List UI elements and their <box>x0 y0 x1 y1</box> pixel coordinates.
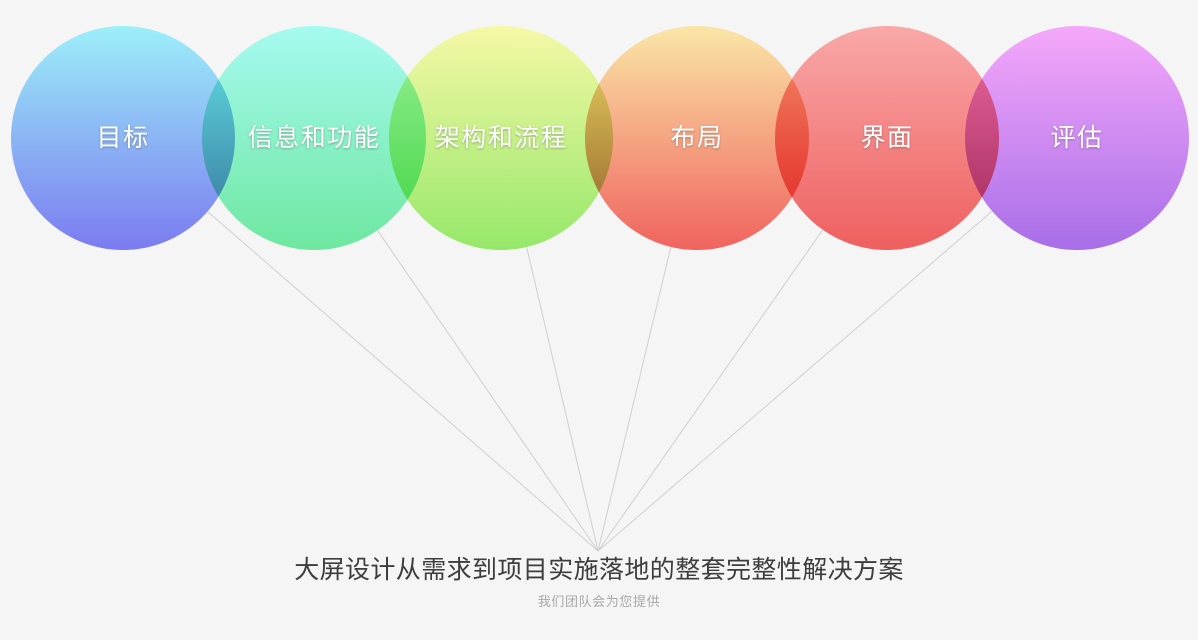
connector-line-architecture-and-process <box>527 247 598 551</box>
connector-line-evaluation <box>598 211 992 551</box>
connector-line-goal <box>208 211 598 551</box>
venn-circle-label: 评估 <box>1050 126 1103 151</box>
venn-circle-architecture-and-process[interactable]: 架构和流程 <box>389 26 613 250</box>
caption-block: 大屏设计从需求到项目实施落地的整套完整性解决方案 我们团队会为您提供 <box>0 553 1198 611</box>
venn-circle-label: 布局 <box>670 126 723 151</box>
venn-circle-label: 信息和功能 <box>248 126 381 151</box>
caption-subtitle: 我们团队会为您提供 <box>0 593 1198 611</box>
diagram-canvas: 目标信息和功能架构和流程布局界面评估 大屏设计从需求到项目实施落地的整套完整性解… <box>0 0 1198 640</box>
venn-circle-label: 目标 <box>96 126 149 151</box>
connector-line-layout <box>598 247 671 551</box>
connector-line-information-and-function <box>377 230 598 551</box>
venn-circle-evaluation[interactable]: 评估 <box>965 26 1189 250</box>
circle-row: 目标信息和功能架构和流程布局界面评估 <box>0 26 1198 250</box>
venn-circle-label: 架构和流程 <box>435 126 568 151</box>
connector-line-interface <box>598 230 823 551</box>
caption-title: 大屏设计从需求到项目实施落地的整套完整性解决方案 <box>0 553 1198 587</box>
venn-circle-label: 界面 <box>860 126 913 151</box>
